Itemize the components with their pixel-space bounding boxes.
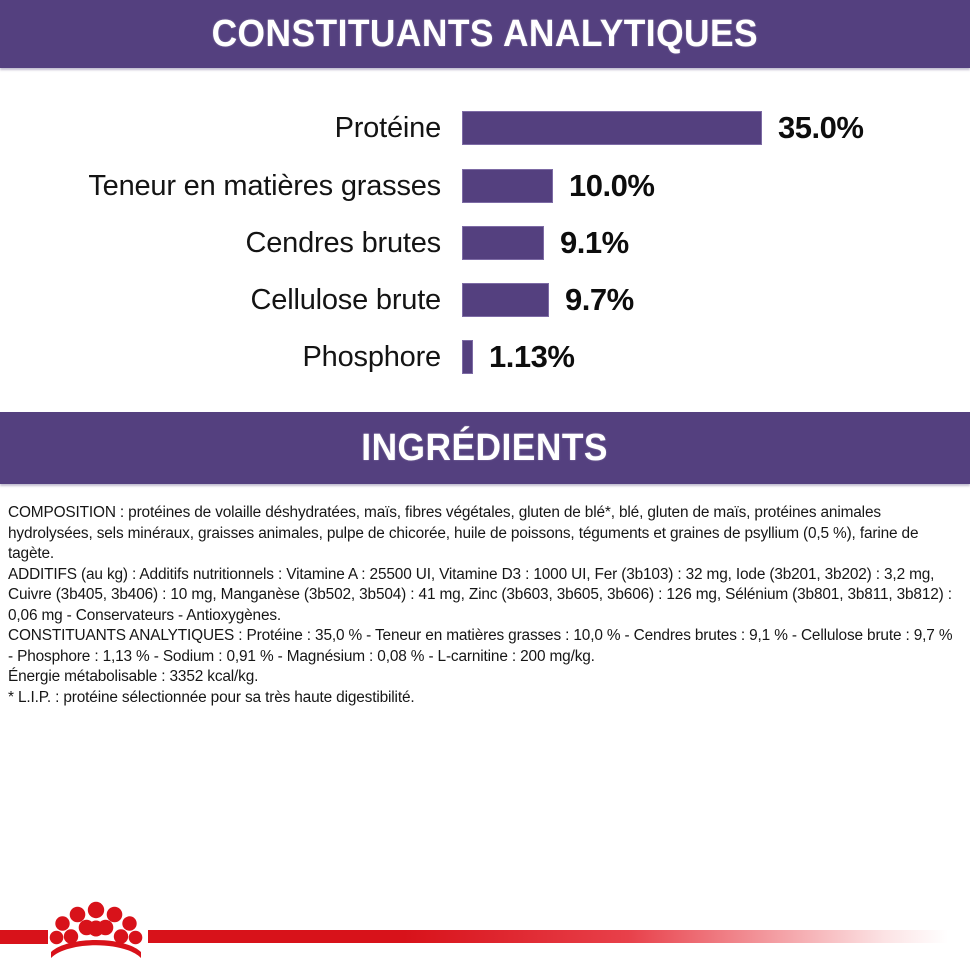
ingredients-header-title: INGRÉDIENTS [362, 429, 609, 467]
constituants-header-band: CONSTITUANTS ANALYTIQUES [0, 0, 970, 68]
composition-paragraph: COMPOSITION : protéines de volaille désh… [8, 503, 960, 565]
chart-row: Cellulose brute 9.7% [0, 274, 970, 326]
chart-bar [462, 283, 549, 317]
analytical-constituents-chart: Protéine 35.0% Teneur en matières grasse… [0, 92, 970, 392]
chart-row-label: Teneur en matières grasses [0, 170, 462, 203]
chart-bar-group: 35.0% [462, 110, 863, 146]
chart-bar [462, 111, 762, 145]
ingredients-text-block: COMPOSITION : protéines de volaille désh… [8, 503, 960, 708]
chart-bar-group: 10.0% [462, 168, 654, 204]
chart-bar [462, 169, 553, 203]
chart-row: Teneur en matières grasses 10.0% [0, 160, 970, 212]
chart-bar-value: 1.13% [489, 339, 574, 375]
constituants-paragraph: CONSTITUANTS ANALYTIQUES : Protéine : 35… [8, 626, 960, 667]
constituants-header-title: CONSTITUANTS ANALYTIQUES [212, 15, 759, 53]
chart-row-label: Cellulose brute [0, 284, 462, 317]
chart-row-label: Cendres brutes [0, 227, 462, 260]
chart-row: Phosphore 1.13% [0, 331, 970, 383]
chart-bar-value: 9.7% [565, 282, 634, 318]
logo-rule-left [0, 930, 48, 944]
logo-rule-right [148, 930, 948, 943]
ingredients-header-band: INGRÉDIENTS [0, 412, 970, 484]
chart-bar-group: 9.7% [462, 282, 634, 318]
additifs-paragraph: ADDITIFS (au kg) : Additifs nutritionnel… [8, 565, 960, 627]
chart-bar-group: 1.13% [462, 339, 574, 375]
chart-bar-value: 35.0% [778, 110, 863, 146]
energie-paragraph: Énergie métabolisable : 3352 kcal/kg. [8, 667, 960, 688]
chart-bar [462, 340, 473, 374]
chart-row: Protéine 35.0% [0, 102, 970, 154]
chart-bar-group: 9.1% [462, 225, 629, 261]
footer-logo-area [0, 890, 970, 971]
chart-bar [462, 226, 544, 260]
chart-bar-value: 10.0% [569, 168, 654, 204]
chart-row-label: Phosphore [0, 341, 462, 374]
lip-note-paragraph: * L.I.P. : protéine sélectionnée pour sa… [8, 688, 960, 709]
chart-row-label: Protéine [0, 112, 462, 145]
chart-row: Cendres brutes 9.1% [0, 217, 970, 269]
royal-canin-crown-icon [46, 898, 146, 960]
chart-bar-value: 9.1% [560, 225, 629, 261]
